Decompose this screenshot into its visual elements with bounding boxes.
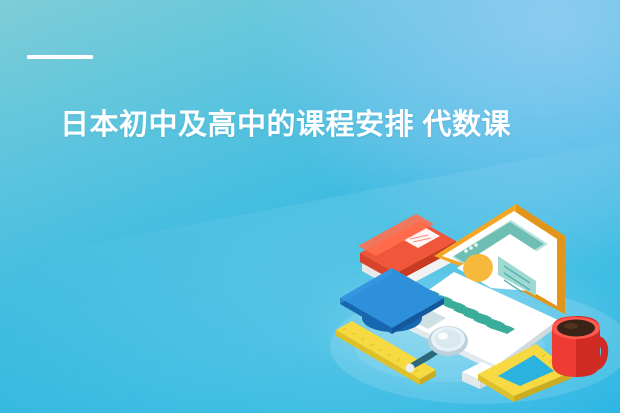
promo-banner: 日本初中及高中的课程安排 代数课 (0, 0, 620, 413)
accent-rule (27, 55, 93, 59)
page-title: 日本初中及高中的课程安排 代数课 (60, 106, 600, 144)
education-illustration (330, 196, 620, 413)
